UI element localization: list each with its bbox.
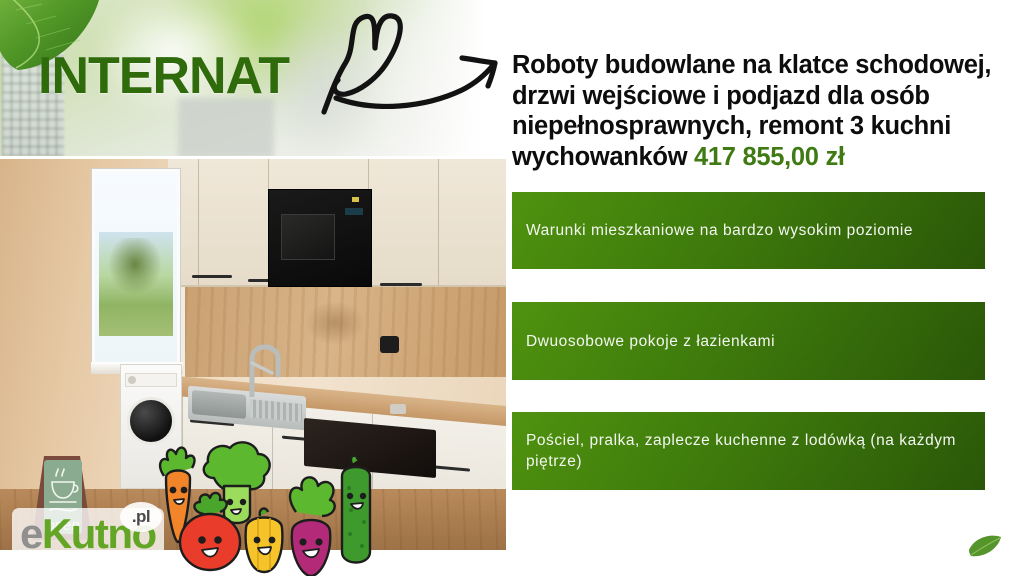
feature-box-label: Warunki mieszkaniowe na bardzo wysokim p… xyxy=(526,220,913,241)
kitchen-counter-item xyxy=(390,404,406,414)
feature-box-label: Dwuosobowe pokoje z łazienkami xyxy=(526,331,775,352)
kitchen-backsplash xyxy=(185,287,506,377)
kitchen-microwave xyxy=(268,189,372,287)
beetroot-icon xyxy=(290,477,335,576)
logo-part-e: e xyxy=(20,510,42,557)
heart-arrow-icon xyxy=(312,8,510,116)
feature-box[interactable]: Pościel, pralka, zaplecze kuchenne z lod… xyxy=(512,412,985,490)
feature-box[interactable]: Warunki mieszkaniowe na bardzo wysokim p… xyxy=(512,192,985,269)
window-view xyxy=(99,232,173,336)
kitchen-wall-socket xyxy=(380,336,399,353)
bell-pepper-icon xyxy=(246,509,283,572)
logo-domain-badge: .pl xyxy=(120,502,162,532)
feature-box[interactable]: Dwuosobowe pokoje z łazienkami xyxy=(512,302,985,380)
kitchen-window xyxy=(92,169,180,365)
page-title: INTERNAT xyxy=(38,50,289,102)
kitchen-faucet xyxy=(248,333,282,397)
headline-amount: 417 855,00 zł xyxy=(694,143,845,171)
ekutno-logo[interactable]: eKutno .pl xyxy=(12,508,164,560)
slide-canvas: INTERNAT xyxy=(0,0,1024,576)
vegetable-characters xyxy=(146,430,386,576)
feature-box-label: Pościel, pralka, zaplecze kuchenne z lod… xyxy=(526,430,971,472)
cucumber-icon xyxy=(342,456,370,563)
headline: Roboty budowlane na klatce schodowej, dr… xyxy=(512,50,1008,172)
leaf-icon xyxy=(968,534,1002,558)
header-blinds xyxy=(178,98,274,156)
